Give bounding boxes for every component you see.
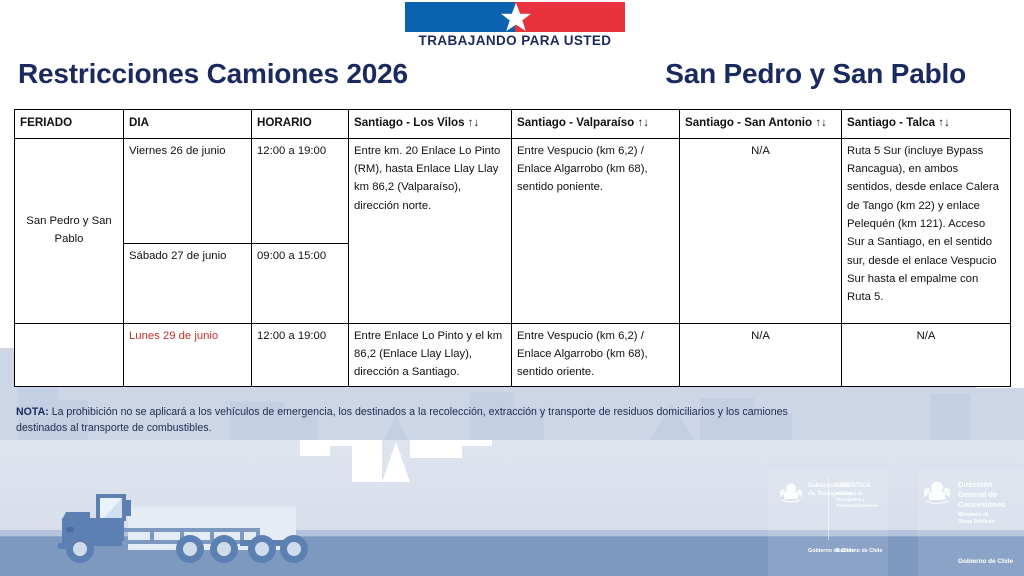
escudo-nacional-icon-2 — [922, 480, 952, 506]
column-header-dia: DIA — [124, 110, 252, 139]
cell-san-antonio: N/A — [680, 323, 842, 386]
footer-logo2-title: LOGÍSTICA — [836, 482, 871, 490]
cell-horario: 12:00 a 19:00 — [252, 323, 349, 386]
footer-logo2-line2: Transportes y — [836, 497, 865, 503]
cell-los-vilos: Entre Enlace Lo Pinto y el km 86,2 (Enla… — [349, 323, 512, 386]
flag-blue-block — [405, 2, 515, 32]
footer-logo2-gobierno: Gobierno de Chile — [836, 548, 882, 554]
nota-text: La prohibición no se aplicará a los vehí… — [16, 406, 788, 434]
cell-horario: 12:00 a 19:00 — [252, 138, 349, 243]
footer-logo2-line3: Telecomunicaciones — [836, 503, 879, 509]
cell-dia: Lunes 29 de junio — [124, 323, 252, 386]
column-header-los-vilos: Santiago - Los Vilos ↑↓ — [349, 110, 512, 139]
cell-feriado: San Pedro y San Pablo — [15, 138, 124, 323]
cell-feriado-empty — [15, 323, 124, 386]
cell-los-vilos: Entre km. 20 Enlace Lo Pinto (RM), hasta… — [349, 138, 512, 323]
footer-logo3-gobierno: Gobierno de Chile — [958, 558, 1013, 565]
footer-logo2-line1: Ministerio de — [836, 491, 863, 497]
footer-logo3-sub1: Ministerio de — [958, 512, 989, 518]
footer-logo3-line2: General de — [958, 490, 997, 499]
table-header-row: FERIADO DIA HORARIO Santiago - Los Vilos… — [15, 110, 1011, 139]
cell-valparaiso: Entre Vespucio (km 6,2) / Enlace Algarro… — [512, 138, 680, 323]
flag-bar — [405, 2, 625, 32]
cell-san-antonio: N/A — [680, 138, 842, 323]
nota-label: NOTA: — [16, 406, 49, 418]
cell-horario: 09:00 a 15:00 — [252, 243, 349, 323]
page-title-right: San Pedro y San Pablo — [665, 58, 966, 90]
footer-logo3-sub2: Obras Públicas — [958, 519, 994, 525]
table-row: Lunes 29 de junio 12:00 a 19:00 Entre En… — [15, 323, 1011, 386]
gobierno-de-chile-logo: TRABAJANDO PARA USTED — [405, 2, 625, 49]
table-row: San Pedro y San Pablo Viernes 26 de juni… — [15, 138, 1011, 243]
cell-dia: Viernes 26 de junio — [124, 138, 252, 243]
column-header-san-antonio: Santiago - San Antonio ↑↓ — [680, 110, 842, 139]
flag-red-block — [515, 2, 625, 32]
cell-talca: N/A — [842, 323, 1011, 386]
truck-illustration — [58, 494, 308, 563]
column-header-feriado: FERIADO — [15, 110, 124, 139]
column-header-valparaiso: Santiago - Valparaíso ↑↓ — [512, 110, 680, 139]
logo-tagline: TRABAJANDO PARA USTED — [405, 33, 625, 48]
cell-dia: Sábado 27 de junio — [124, 243, 252, 323]
restrictions-table: FERIADO DIA HORARIO Santiago - Los Vilos… — [14, 109, 1011, 387]
cell-talca: Ruta 5 Sur (incluye Bypass Rancagua), en… — [842, 138, 1011, 323]
footer-logo3-line3: Concesiones — [958, 500, 1005, 509]
restrictions-table-wrapper: FERIADO DIA HORARIO Santiago - Los Vilos… — [14, 109, 1010, 387]
flag-star-icon — [501, 3, 531, 31]
column-header-horario: HORARIO — [252, 110, 349, 139]
nota-block: NOTA: La prohibición no se aplicará a lo… — [16, 404, 836, 437]
footer-logo-strip: Subsecretaría de Transportes Gobierno de… — [768, 470, 1024, 576]
skyline-cutouts — [300, 440, 492, 482]
page-title-left: Restricciones Camiones 2026 — [18, 58, 408, 90]
column-header-talca: Santiago - Talca ↑↓ — [842, 110, 1011, 139]
cell-valparaiso: Entre Vespucio (km 6,2) / Enlace Algarro… — [512, 323, 680, 386]
footer-logo3-line1: Dirección — [958, 480, 993, 489]
escudo-nacional-icon-1 — [778, 482, 804, 504]
